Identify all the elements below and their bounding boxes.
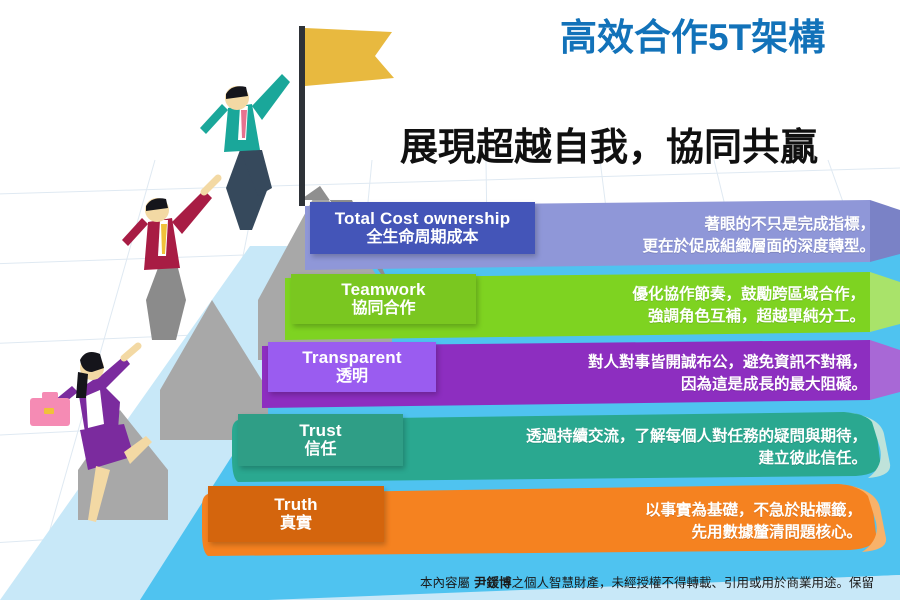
step-description-truth: 以事實為基礎，不急於貼標籤， 先用數據釐清問題核心。 [407, 500, 862, 544]
goal-flag [305, 28, 394, 86]
step-label-en: Trust [299, 421, 342, 441]
step-label-teamwork[interactable]: Teamwork 協同合作 [291, 274, 476, 324]
step-label-zh: 透明 [336, 367, 368, 386]
step-description-teamwork: 優化協作節奏，鼓勵跨區域合作， 強調角色互補，超越單純分工。 [490, 284, 865, 328]
step-label-en: Total Cost ownership [335, 209, 511, 229]
desc-line-1: 以事實為基礎，不急於貼標籤， [407, 500, 862, 522]
copyright-notice: 本內容屬 尹鍰博之個人智慧財產，未經授權不得轉載、引用或用於商業用途。保留 [420, 572, 900, 591]
step-description-trust: 透過持續交流，了解每個人對任務的疑問與期待， 建立彼此信任。 [417, 426, 867, 470]
step-label-zh: 真實 [280, 514, 312, 533]
step-label-zh: 全生命周期成本 [366, 228, 478, 247]
page-title: 高效合作5T架構 [560, 18, 900, 59]
desc-line-1: 著眼的不只是完成指標， [545, 214, 875, 236]
desc-line-1: 對人對事皆開誠布公，避免資訊不對稱， [452, 352, 867, 374]
step-label-en: Truth [274, 495, 318, 515]
step-label-trust[interactable]: Trust 信任 [238, 414, 403, 466]
desc-line-2: 因為這是成長的最大阻礙。 [452, 374, 867, 396]
page-subtitle: 展現超越自我，協同共贏 [400, 128, 900, 170]
copyright-suffix: 之個人智慧財產，未經授權不得轉載、引用或用於商業用途。保留 [512, 575, 875, 590]
copyright-author: 尹鍰博 [474, 575, 512, 590]
infographic-canvas: 高效合作5T架構 展現超越自我，協同共贏 著眼的不只是完成指標， 更在於促成組織… [0, 0, 900, 600]
step-label-zh: 協同合作 [351, 299, 415, 318]
step-label-en: Teamwork [341, 280, 425, 300]
step-label-total-cost-ownership[interactable]: Total Cost ownership 全生命周期成本 [310, 202, 535, 254]
desc-line-2: 建立彼此信任。 [417, 448, 867, 470]
step-label-en: Transparent [302, 348, 402, 368]
desc-line-2: 先用數據釐清問題核心。 [407, 522, 862, 544]
copyright-prefix: 本內容屬 [420, 575, 474, 590]
desc-line-1: 優化協作節奏，鼓勵跨區域合作， [490, 284, 865, 306]
desc-line-1: 透過持續交流，了解每個人對任務的疑問與期待， [417, 426, 867, 448]
desc-line-2: 強調角色互補，超越單純分工。 [490, 306, 865, 328]
step-label-zh: 信任 [304, 440, 336, 459]
step-label-truth[interactable]: Truth 真實 [208, 486, 384, 542]
climber-teal [200, 74, 290, 230]
step-description-total-cost-ownership: 著眼的不只是完成指標， 更在於促成組織層面的深度轉型。 [545, 214, 875, 258]
flag-pole [299, 26, 305, 206]
step-label-transparent[interactable]: Transparent 透明 [268, 342, 436, 392]
desc-line-2: 更在於促成組織層面的深度轉型。 [545, 236, 875, 258]
step-description-transparent: 對人對事皆開誠布公，避免資訊不對稱， 因為這是成長的最大阻礙。 [452, 352, 867, 396]
